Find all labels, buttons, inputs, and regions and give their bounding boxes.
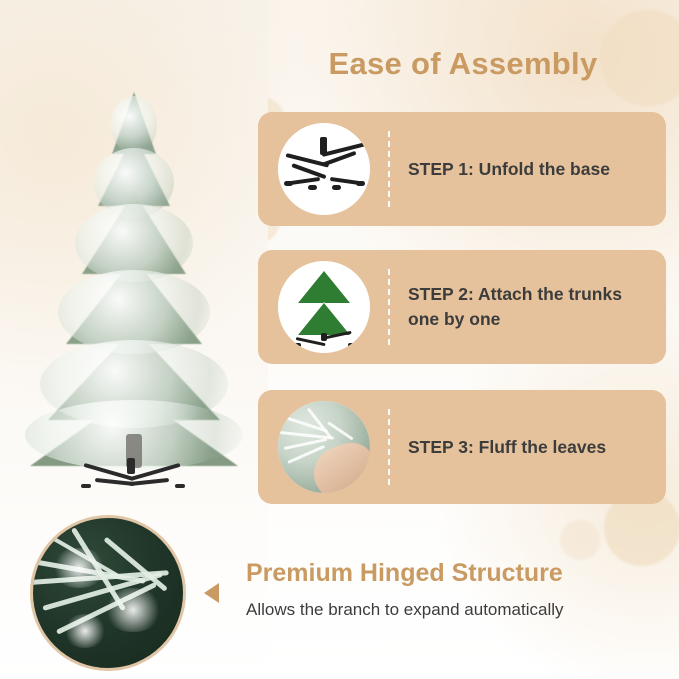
step-card-3: STEP 3: Fluff the leaves xyxy=(258,390,666,504)
step-card-2: + STEP 2: Attach the trunks one by one xyxy=(258,250,666,364)
stacked-tree-sections-icon: + xyxy=(278,261,370,353)
hinged-branch-closeup xyxy=(30,515,186,671)
bokeh-decor xyxy=(560,520,600,560)
step-2-label: STEP 2: Attach the trunks one by one xyxy=(408,282,652,332)
hand-fluffing-branches-photo xyxy=(278,401,370,493)
left-pointing-triangle-icon xyxy=(204,583,219,603)
bottom-subtitle: Allows the branch to expand automaticall… xyxy=(246,600,676,620)
step-card-1: STEP 1: Unfold the base xyxy=(258,112,666,226)
product-infographic: Ease of Assembly STEP 1: Unfold the base… xyxy=(0,0,679,679)
step-3-label: STEP 3: Fluff the leaves xyxy=(408,435,606,460)
tree-stand-icon xyxy=(278,123,370,215)
metal-tree-stand xyxy=(79,458,189,492)
branch-closeup-background xyxy=(278,401,370,493)
card-divider xyxy=(388,409,390,485)
page-title: Ease of Assembly xyxy=(258,46,668,82)
bottom-title: Premium Hinged Structure xyxy=(246,559,666,588)
step-1-label: STEP 1: Unfold the base xyxy=(408,157,610,182)
hand-icon xyxy=(307,437,370,493)
card-divider xyxy=(388,131,390,207)
card-divider xyxy=(388,269,390,345)
bokeh-decor xyxy=(520,0,572,42)
flocked-christmas-tree-icon xyxy=(9,92,259,492)
